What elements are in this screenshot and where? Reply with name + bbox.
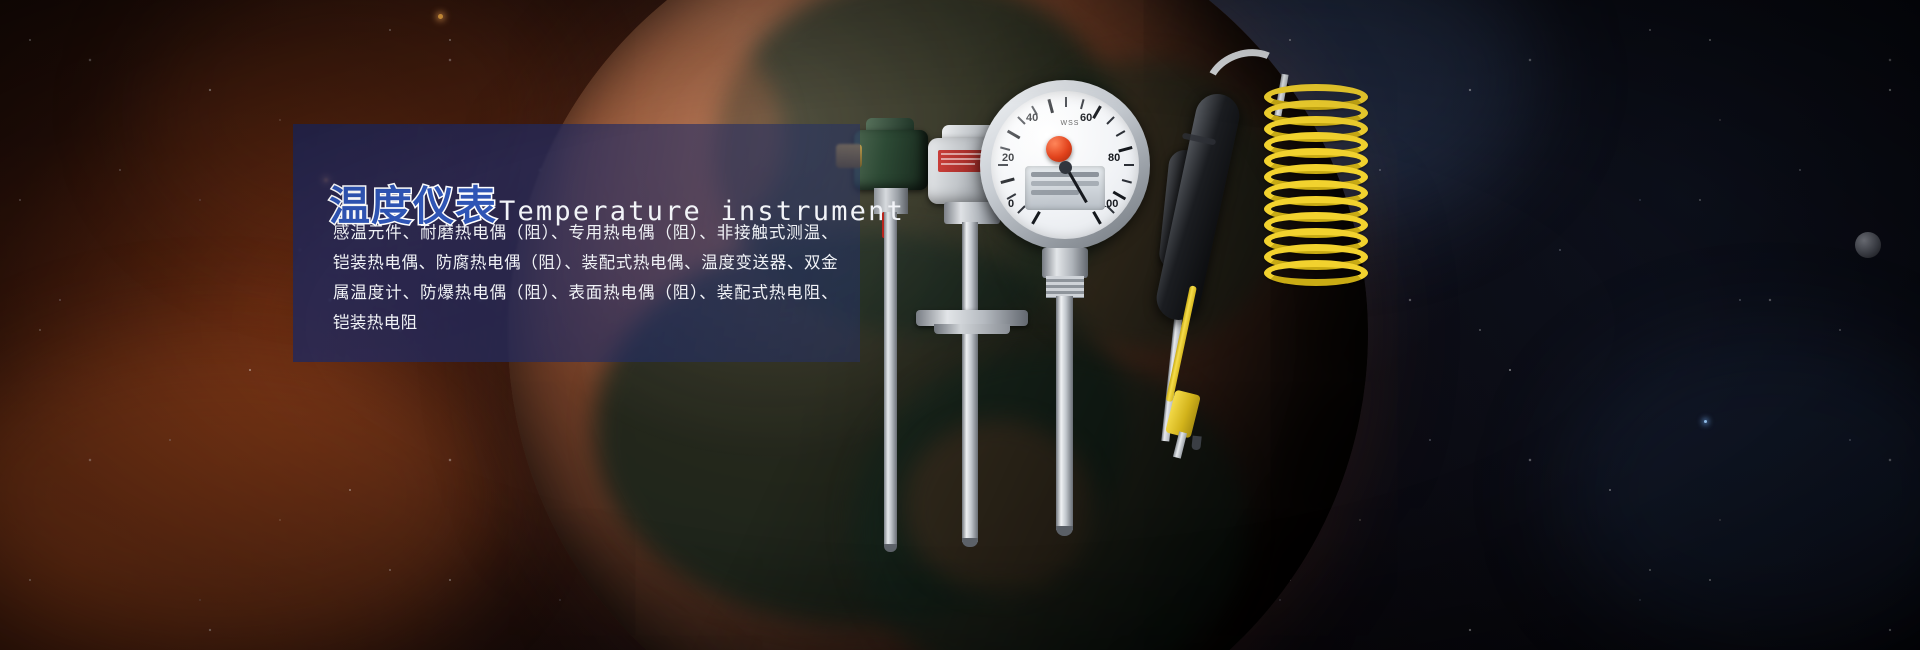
product-banner: 0 20 40 60 80 100 WSS	[0, 0, 1920, 650]
bright-star-orange	[438, 14, 443, 19]
moon-graphic	[1855, 232, 1881, 258]
text-panel: 温度仪表Temperature instrument 感温元件、耐磨热电偶（阻）…	[293, 124, 860, 362]
product-description: 感温元件、耐磨热电偶（阻）、专用热电偶（阻）、非接触式测温、铠装热电偶、防腐热电…	[333, 218, 838, 338]
bright-star-blue	[1704, 420, 1707, 423]
